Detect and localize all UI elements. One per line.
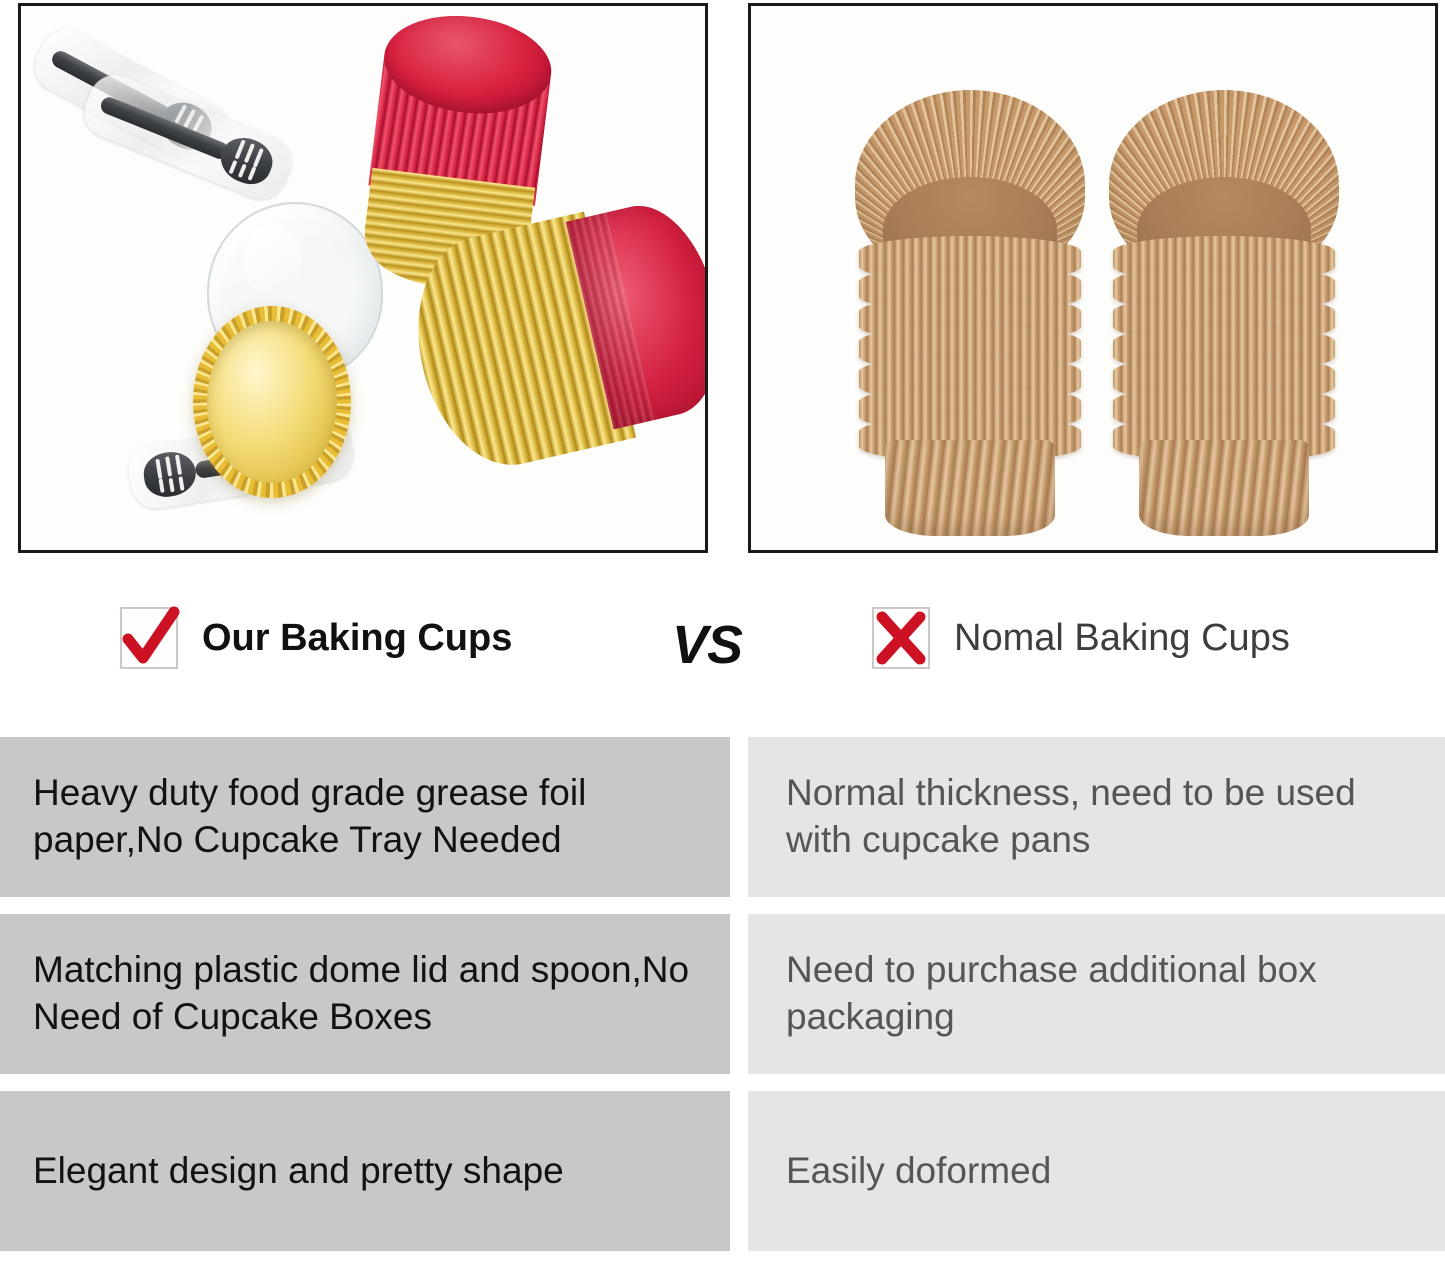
vs-divider-label: VS [672, 614, 742, 676]
gold-foil-cup-icon [193, 306, 351, 498]
table-row: Matching plastic dome lid and spoon,No N… [0, 914, 1445, 1074]
table-row: Heavy duty food grade grease foil paper,… [0, 737, 1445, 897]
table-cell-pro-text: Elegant design and pretty shape [33, 1148, 564, 1195]
photo-canvas-ours [21, 6, 705, 550]
header-normal-label: Nomal Baking Cups [954, 619, 1290, 657]
table-cell-pro-text: Matching plastic dome lid and spoon,No N… [33, 947, 704, 1040]
table-cell-con: Easily doformed [748, 1091, 1445, 1251]
header-ours: Our Baking Cups [120, 607, 512, 669]
comparison-table: Heavy duty food grade grease foil paper,… [0, 737, 1445, 1268]
photo-canvas-normal [751, 6, 1435, 550]
table-cell-con: Normal thickness, need to be used with c… [748, 737, 1445, 897]
header-ours-label: Our Baking Cups [202, 619, 512, 657]
product-photo-normal [748, 3, 1438, 553]
table-cell-con: Need to purchase additional box packagin… [748, 914, 1445, 1074]
table-cell-con-text: Need to purchase additional box packagin… [786, 947, 1419, 1040]
table-cell-con-text: Easily doformed [786, 1148, 1051, 1195]
product-photo-ours [18, 3, 708, 553]
header-normal: Nomal Baking Cups [872, 607, 1290, 669]
table-cell-pro-text: Heavy duty food grade grease foil paper,… [33, 770, 704, 863]
table-cell-pro: Elegant design and pretty shape [0, 1091, 730, 1251]
red-x-icon [872, 607, 930, 669]
table-cell-pro: Matching plastic dome lid and spoon,No N… [0, 914, 730, 1074]
red-check-icon [120, 607, 178, 669]
kraft-liner-stack-icon [1099, 90, 1349, 538]
table-row: Elegant design and pretty shape Easily d… [0, 1091, 1445, 1251]
kraft-liner-stack-icon [845, 90, 1095, 538]
table-cell-pro: Heavy duty food grade grease foil paper,… [0, 737, 730, 897]
table-cell-con-text: Normal thickness, need to be used with c… [786, 770, 1419, 863]
product-photo-row [0, 0, 1445, 560]
